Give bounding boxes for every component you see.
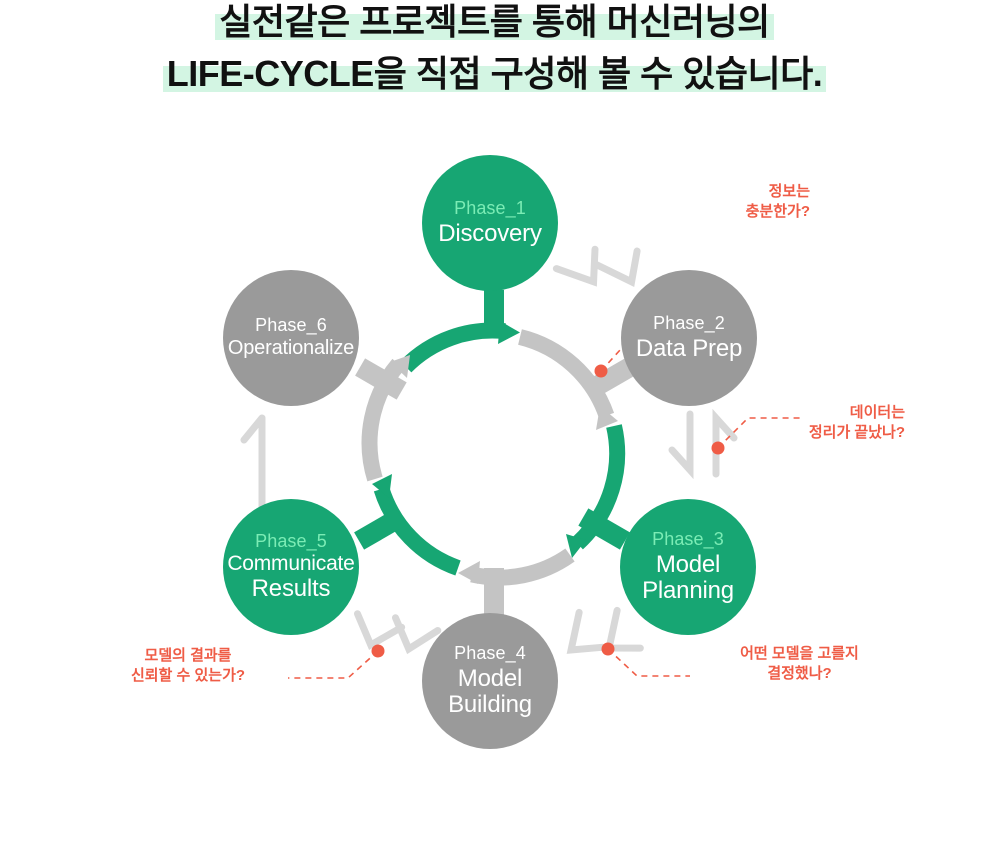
leader-line-4 xyxy=(288,651,378,678)
annotation-2: 데이터는 정리가 끝났나? xyxy=(690,403,905,443)
leader-dot-2 xyxy=(712,442,725,455)
title-line-2-row: LIFE-CYCLE을 직접 구성해 볼 수 있습니다. xyxy=(0,50,989,100)
annotation-4-line-1: 모델의 결과를 xyxy=(145,647,232,664)
lifecycle-diagram: Phase_1 Discovery Phase_2 Data Prep Phas… xyxy=(0,118,989,818)
phase-circle-4[interactable]: Phase_4 Model Building xyxy=(422,613,558,749)
annotation-1-line-2: 충분한가? xyxy=(640,202,810,222)
phase-5-name: Communicate Results xyxy=(227,553,354,602)
chevron-p2-p3-outer xyxy=(672,414,690,470)
slide-canvas: 실전같은 프로젝트를 통해 머신러닝의 LIFE-CYCLE을 직접 구성해 볼… xyxy=(0,0,989,859)
annotation-2-line-2: 정리가 끝났나? xyxy=(690,423,905,443)
phase-2-number: Phase_2 xyxy=(653,314,725,333)
leader-line-3 xyxy=(608,649,690,676)
annotation-4: 모델의 결과를 신뢰할 수 있는가? xyxy=(88,646,288,686)
leader-dot-3 xyxy=(602,643,615,656)
phase-circle-1[interactable]: Phase_1 Discovery xyxy=(422,155,558,291)
annotation-1: 정보는 충분한가? xyxy=(640,182,810,222)
annotation-3-line-1: 어떤 모델을 고를지 xyxy=(740,645,859,662)
chevron-p3-p4-outer xyxy=(595,610,649,663)
phase-circle-2[interactable]: Phase_2 Data Prep xyxy=(621,270,757,406)
ring-stem-phase-1 xyxy=(484,290,504,338)
leader-dot-4 xyxy=(372,645,385,658)
chevron-p1-p2-inner xyxy=(596,239,650,292)
phase-3-name: Model Planning xyxy=(642,552,734,604)
phase-2-name: Data Prep xyxy=(636,336,742,362)
leader-dot-1 xyxy=(595,365,608,378)
title-line-2-text: LIFE-CYCLE을 직접 구성해 볼 수 있습니다. xyxy=(167,53,822,94)
annotation-3-line-2: 결정했나? xyxy=(692,664,907,684)
ring-stem-phase-4 xyxy=(484,568,504,616)
phase-6-name: Operationalize xyxy=(228,338,354,360)
phase-4-name: Model Building xyxy=(448,666,532,718)
ring-stem-phase-5 xyxy=(354,508,406,549)
title-line-1-text: 실전같은 프로젝트를 통해 머신러닝의 xyxy=(219,1,769,42)
chevron-p3-p4-inner xyxy=(557,612,609,664)
phase-circle-5[interactable]: Phase_5 Communicate Results xyxy=(223,499,359,635)
phase-circle-3[interactable]: Phase_3 Model Planning xyxy=(620,499,756,635)
annotation-2-line-1: 데이터는 xyxy=(850,404,905,421)
phase-3-number: Phase_3 xyxy=(652,530,724,549)
title-line-1: 실전같은 프로젝트를 통해 머신러닝의 xyxy=(219,0,769,44)
annotation-1-line-1: 정보는 xyxy=(769,183,810,200)
ring-arrowhead-4 xyxy=(458,561,480,584)
annotation-4-line-2: 신뢰할 수 있는가? xyxy=(88,666,288,686)
phase-1-number: Phase_1 xyxy=(454,199,526,218)
phase-1-name: Discovery xyxy=(438,221,542,247)
ring-segment-2 xyxy=(520,337,607,416)
ring-segments xyxy=(354,290,635,616)
phase-6-number: Phase_6 xyxy=(255,316,327,335)
title-line-1-row: 실전같은 프로젝트를 통해 머신러닝의 xyxy=(0,0,989,50)
annotation-3: 어떤 모델을 고를지 결정했나? xyxy=(692,644,907,684)
page-title: 실전같은 프로젝트를 통해 머신러닝의 LIFE-CYCLE을 직접 구성해 볼… xyxy=(0,0,989,100)
phase-5-number: Phase_5 xyxy=(255,532,327,551)
title-line-2: LIFE-CYCLE을 직접 구성해 볼 수 있습니다. xyxy=(167,52,822,96)
phase-4-number: Phase_4 xyxy=(454,644,526,663)
phase-circle-6[interactable]: Phase_6 Operationalize xyxy=(223,270,359,406)
